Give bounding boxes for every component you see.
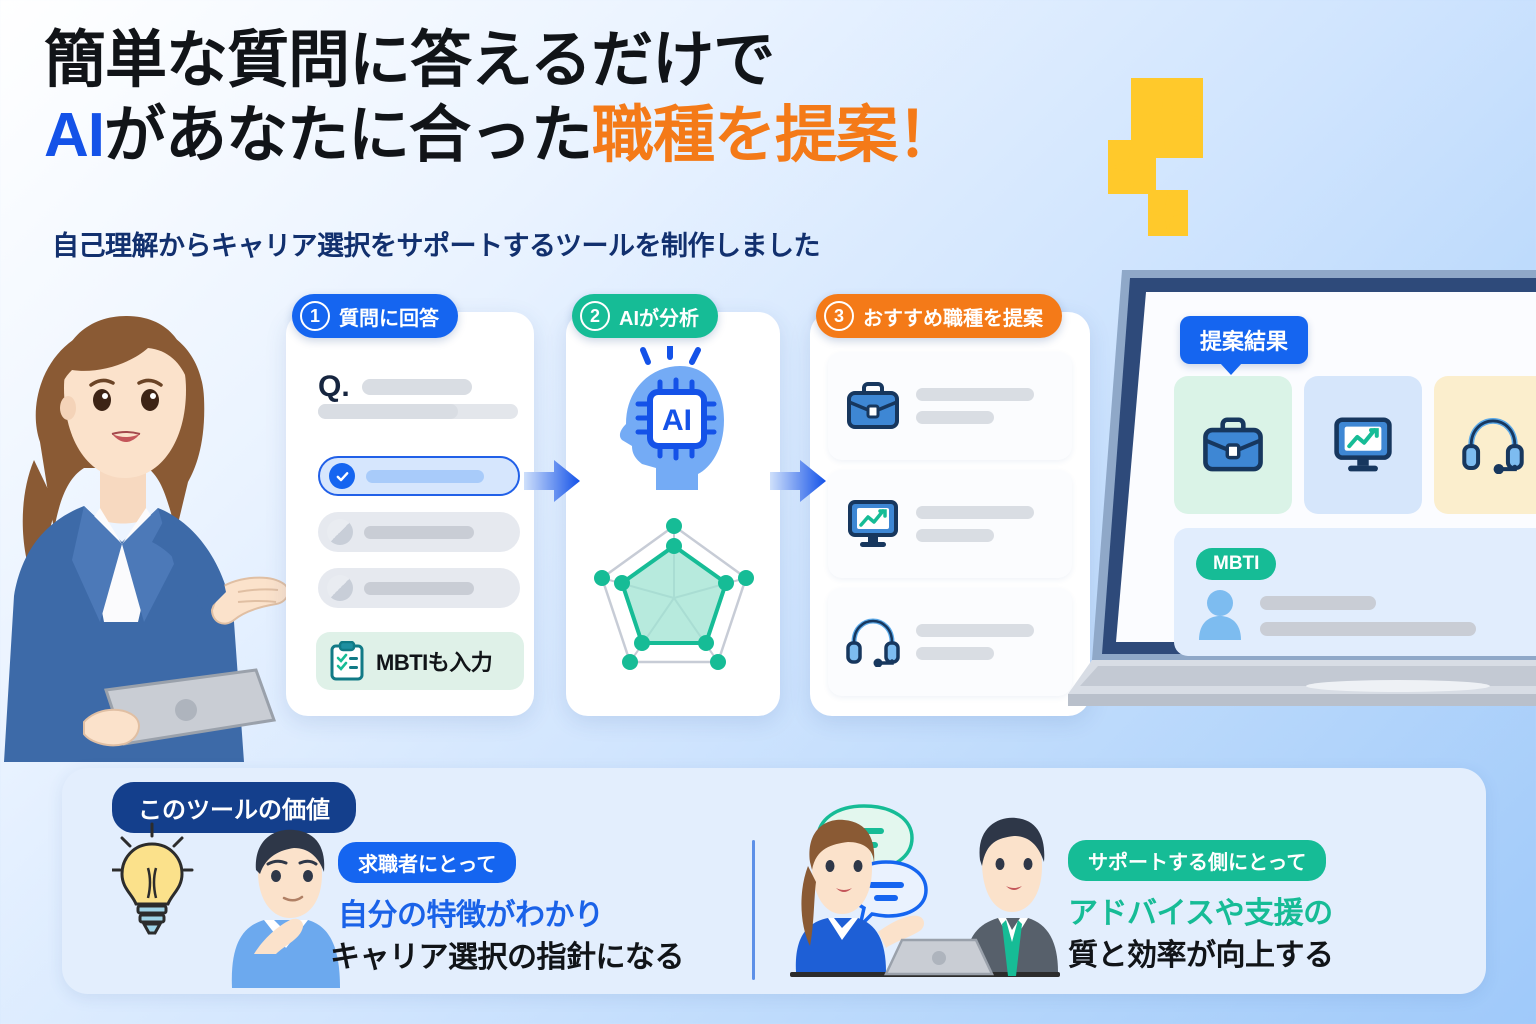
ai-chip-label: AI xyxy=(662,404,692,437)
two-people-consulting-illustration xyxy=(790,800,1060,990)
job-desc-placeholder xyxy=(916,411,994,424)
pentagon-radar-chart xyxy=(588,512,760,680)
option-text-placeholder xyxy=(364,526,474,539)
answer-option[interactable] xyxy=(318,512,520,552)
business-woman-illustration xyxy=(0,292,288,772)
job-text-lines xyxy=(916,506,1034,542)
job-title-placeholder xyxy=(916,388,1034,401)
supporter-pill: サポートする側にとって xyxy=(1068,840,1326,881)
headline-middle-text: があなたに合った xyxy=(104,101,592,170)
infographic-canvas: 簡単な質問に答えるだけで AIがあなたに合った職種を提案！ 自己理解からキャリア… xyxy=(0,0,1536,1024)
job-text-lines xyxy=(916,388,1034,424)
step-label-2: AIが分析 xyxy=(619,302,699,331)
briefcase-icon xyxy=(846,382,900,430)
headset-icon xyxy=(846,617,900,667)
sparkle-icon xyxy=(1148,190,1188,236)
step-label-3: おすすめ職種を提案 xyxy=(863,302,1043,331)
headline-line-1: 簡単な質問に答えるだけで xyxy=(44,28,1144,95)
job-title-placeholder xyxy=(916,506,1034,519)
option-text-placeholder xyxy=(366,470,484,483)
headline-block: 簡単な質問に答えるだけで AIがあなたに合った職種を提案！ xyxy=(44,28,1144,170)
step-number-2: 2 xyxy=(580,301,610,331)
check-icon xyxy=(329,463,355,489)
flow-arrow-icon xyxy=(770,458,828,504)
question-prefix: Q. xyxy=(318,372,350,402)
mbti-input-note: MBTIも入力 xyxy=(316,632,524,690)
job-title-placeholder xyxy=(916,624,1034,637)
monitor-chart-icon xyxy=(846,499,900,549)
ai-brain-icon: AI xyxy=(612,346,734,490)
user-avatar-icon xyxy=(1196,588,1244,640)
step-number-3: 3 xyxy=(824,301,854,331)
headset-icon xyxy=(1462,416,1524,474)
supporter-benefit-line-2: 質と効率が向上する xyxy=(1068,930,1334,974)
result-badge: 提案結果 xyxy=(1180,316,1308,364)
result-tile-monitor[interactable] xyxy=(1304,376,1422,514)
supporter-benefit-line-1: アドバイスや支援の xyxy=(1068,888,1333,932)
result-tile-briefcase[interactable] xyxy=(1174,376,1292,514)
option-text-placeholder xyxy=(364,582,474,595)
profile-text-line-1 xyxy=(1260,596,1376,610)
headline-line-2: AIがあなたに合った職種を提案！ xyxy=(44,101,1144,170)
job-desc-placeholder xyxy=(916,529,994,542)
flow-arrow-icon xyxy=(524,458,582,504)
briefcase-icon xyxy=(1202,417,1264,473)
profile-text-line-2 xyxy=(1260,622,1476,636)
step-badge-3: 3 おすすめ職種を提案 xyxy=(816,294,1062,338)
radio-icon xyxy=(327,575,353,601)
result-tile-headset[interactable] xyxy=(1434,376,1536,514)
sparkle-icon xyxy=(1108,140,1156,194)
mbti-note-label: MBTIも入力 xyxy=(376,645,492,677)
job-text-lines xyxy=(916,624,1034,660)
step-number-1: 1 xyxy=(300,301,330,331)
job-suggestion-row[interactable] xyxy=(828,352,1072,460)
subtitle: 自己理解からキャリア選択をサポートするツールを制作しました xyxy=(52,224,820,263)
job-suggestion-row[interactable] xyxy=(828,588,1072,696)
jobseeker-pill: 求職者にとって xyxy=(338,842,516,883)
mbti-badge: MBTI xyxy=(1196,548,1276,580)
step-badge-2: 2 AIが分析 xyxy=(572,294,718,338)
monitor-chart-icon xyxy=(1332,416,1394,474)
radio-icon xyxy=(327,519,353,545)
answer-option-selected[interactable] xyxy=(318,456,520,496)
step-badge-1: 1 質問に回答 xyxy=(292,294,458,338)
job-suggestion-row[interactable] xyxy=(828,470,1072,578)
lightbulb-thinking-man-illustration xyxy=(112,820,352,990)
question-row: Q. xyxy=(318,372,472,402)
value-panel-divider xyxy=(752,840,755,980)
step-label-1: 質問に回答 xyxy=(339,302,439,331)
headline-ai-text: AI xyxy=(44,101,104,170)
jobseeker-benefit-line-2: キャリア選択の指針になる xyxy=(330,932,684,976)
question-text-line-2-fill xyxy=(318,404,458,419)
headline-accent-text: 職種を提案！ xyxy=(592,101,958,170)
answer-option[interactable] xyxy=(318,568,520,608)
job-desc-placeholder xyxy=(916,647,994,660)
question-text-placeholder xyxy=(362,379,472,395)
clipboard-icon xyxy=(330,641,364,681)
jobseeker-benefit-line-1: 自分の特徴がわかり xyxy=(338,890,604,934)
